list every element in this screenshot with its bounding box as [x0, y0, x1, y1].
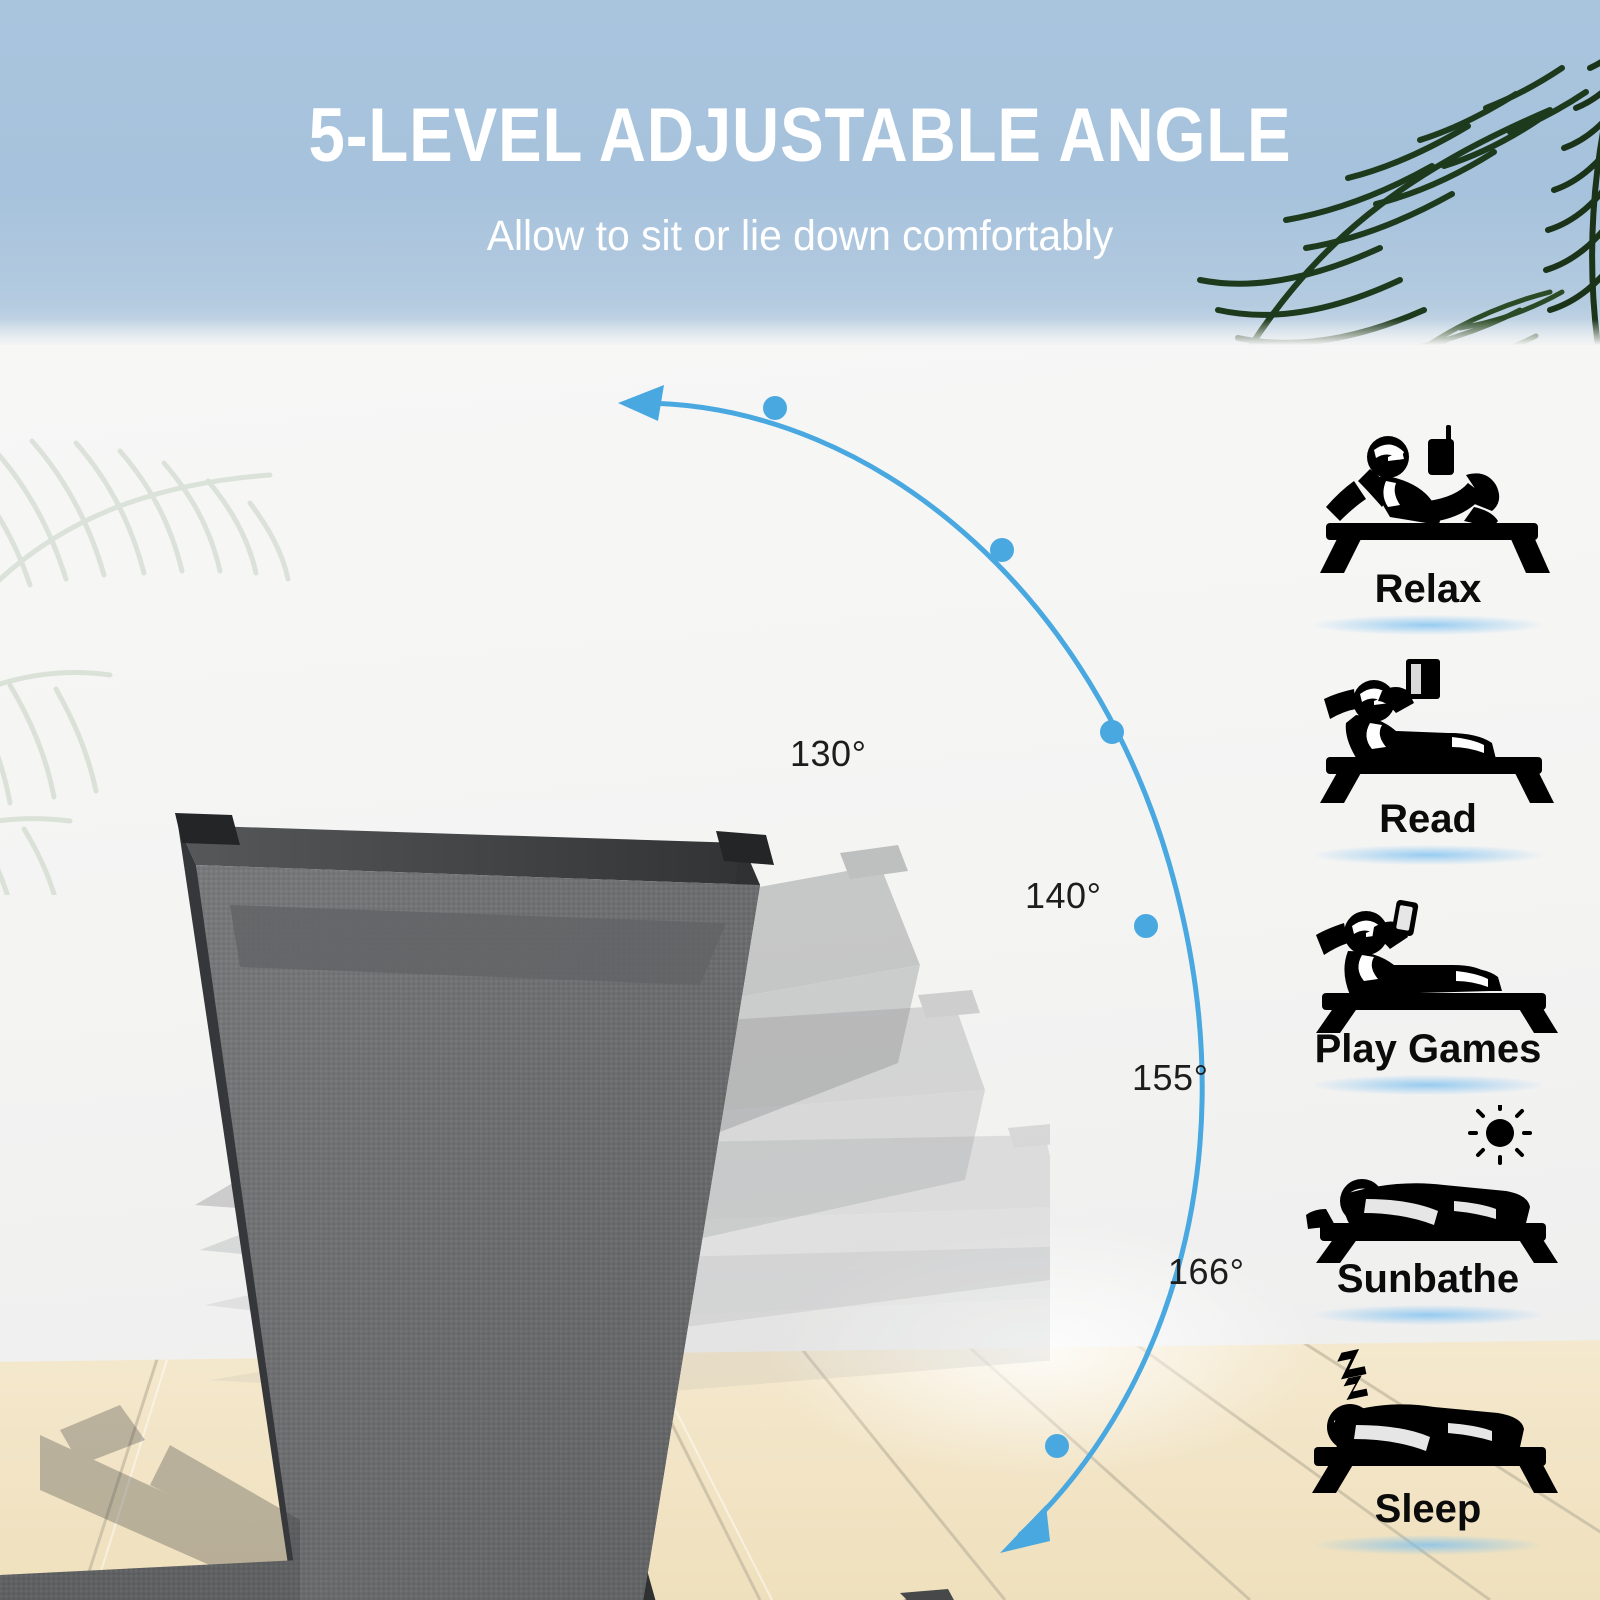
- list-item: Relax: [1278, 415, 1578, 645]
- activity-label: Sleep: [1278, 1487, 1578, 1532]
- header-banner: 5-LEVEL ADJUSTABLE ANGLE Allow to sit or…: [0, 0, 1600, 345]
- arc-arrow-bottom: [1000, 1505, 1050, 1553]
- label-glow: [1313, 1305, 1543, 1325]
- arc-path: [640, 403, 1202, 1535]
- angle-dot-130: [763, 396, 787, 420]
- label-glow: [1313, 1535, 1543, 1555]
- arc-arrow-top: [618, 385, 664, 421]
- infographic-canvas: 130° 140° 155° 166° 180°: [0, 0, 1600, 1600]
- person-sleeping-zz-icon: [1278, 1335, 1578, 1495]
- activity-list: Relax: [1278, 415, 1578, 1565]
- label-glow: [1313, 615, 1543, 635]
- main-scene: 130° 140° 155° 166° 180°: [0, 345, 1600, 1600]
- angle-label-166: 166°: [1168, 1251, 1244, 1293]
- list-item: Sunbathe: [1278, 1105, 1578, 1335]
- angle-label-155: 155°: [1132, 1057, 1208, 1099]
- person-reclining-with-drink-icon: [1278, 415, 1578, 575]
- page-title: 5-LEVEL ADJUSTABLE ANGLE: [112, 98, 1488, 174]
- person-reclining-with-phone-icon: [1278, 875, 1578, 1035]
- angle-dot-180: [1045, 1434, 1069, 1458]
- angle-dot-155: [1100, 720, 1124, 744]
- activity-label: Relax: [1278, 567, 1578, 612]
- header-bottom-fade: [0, 319, 1600, 345]
- angle-label-130: 130°: [790, 733, 866, 775]
- activity-label: Read: [1278, 797, 1578, 842]
- page-subtitle: Allow to sit or lie down comfortably: [40, 212, 1560, 261]
- list-item: Sleep: [1278, 1335, 1578, 1565]
- angle-dot-166: [1134, 914, 1158, 938]
- angle-dot-140: [990, 538, 1014, 562]
- person-reclining-with-book-icon: [1278, 645, 1578, 805]
- label-glow: [1313, 1075, 1543, 1095]
- list-item: Play Games: [1278, 875, 1578, 1105]
- activity-label: Play Games: [1278, 1027, 1578, 1072]
- label-glow: [1313, 845, 1543, 865]
- list-item: Read: [1278, 645, 1578, 875]
- angle-label-140: 140°: [1025, 875, 1101, 917]
- activity-label: Sunbathe: [1278, 1257, 1578, 1302]
- person-lying-with-sun-icon: [1278, 1105, 1578, 1265]
